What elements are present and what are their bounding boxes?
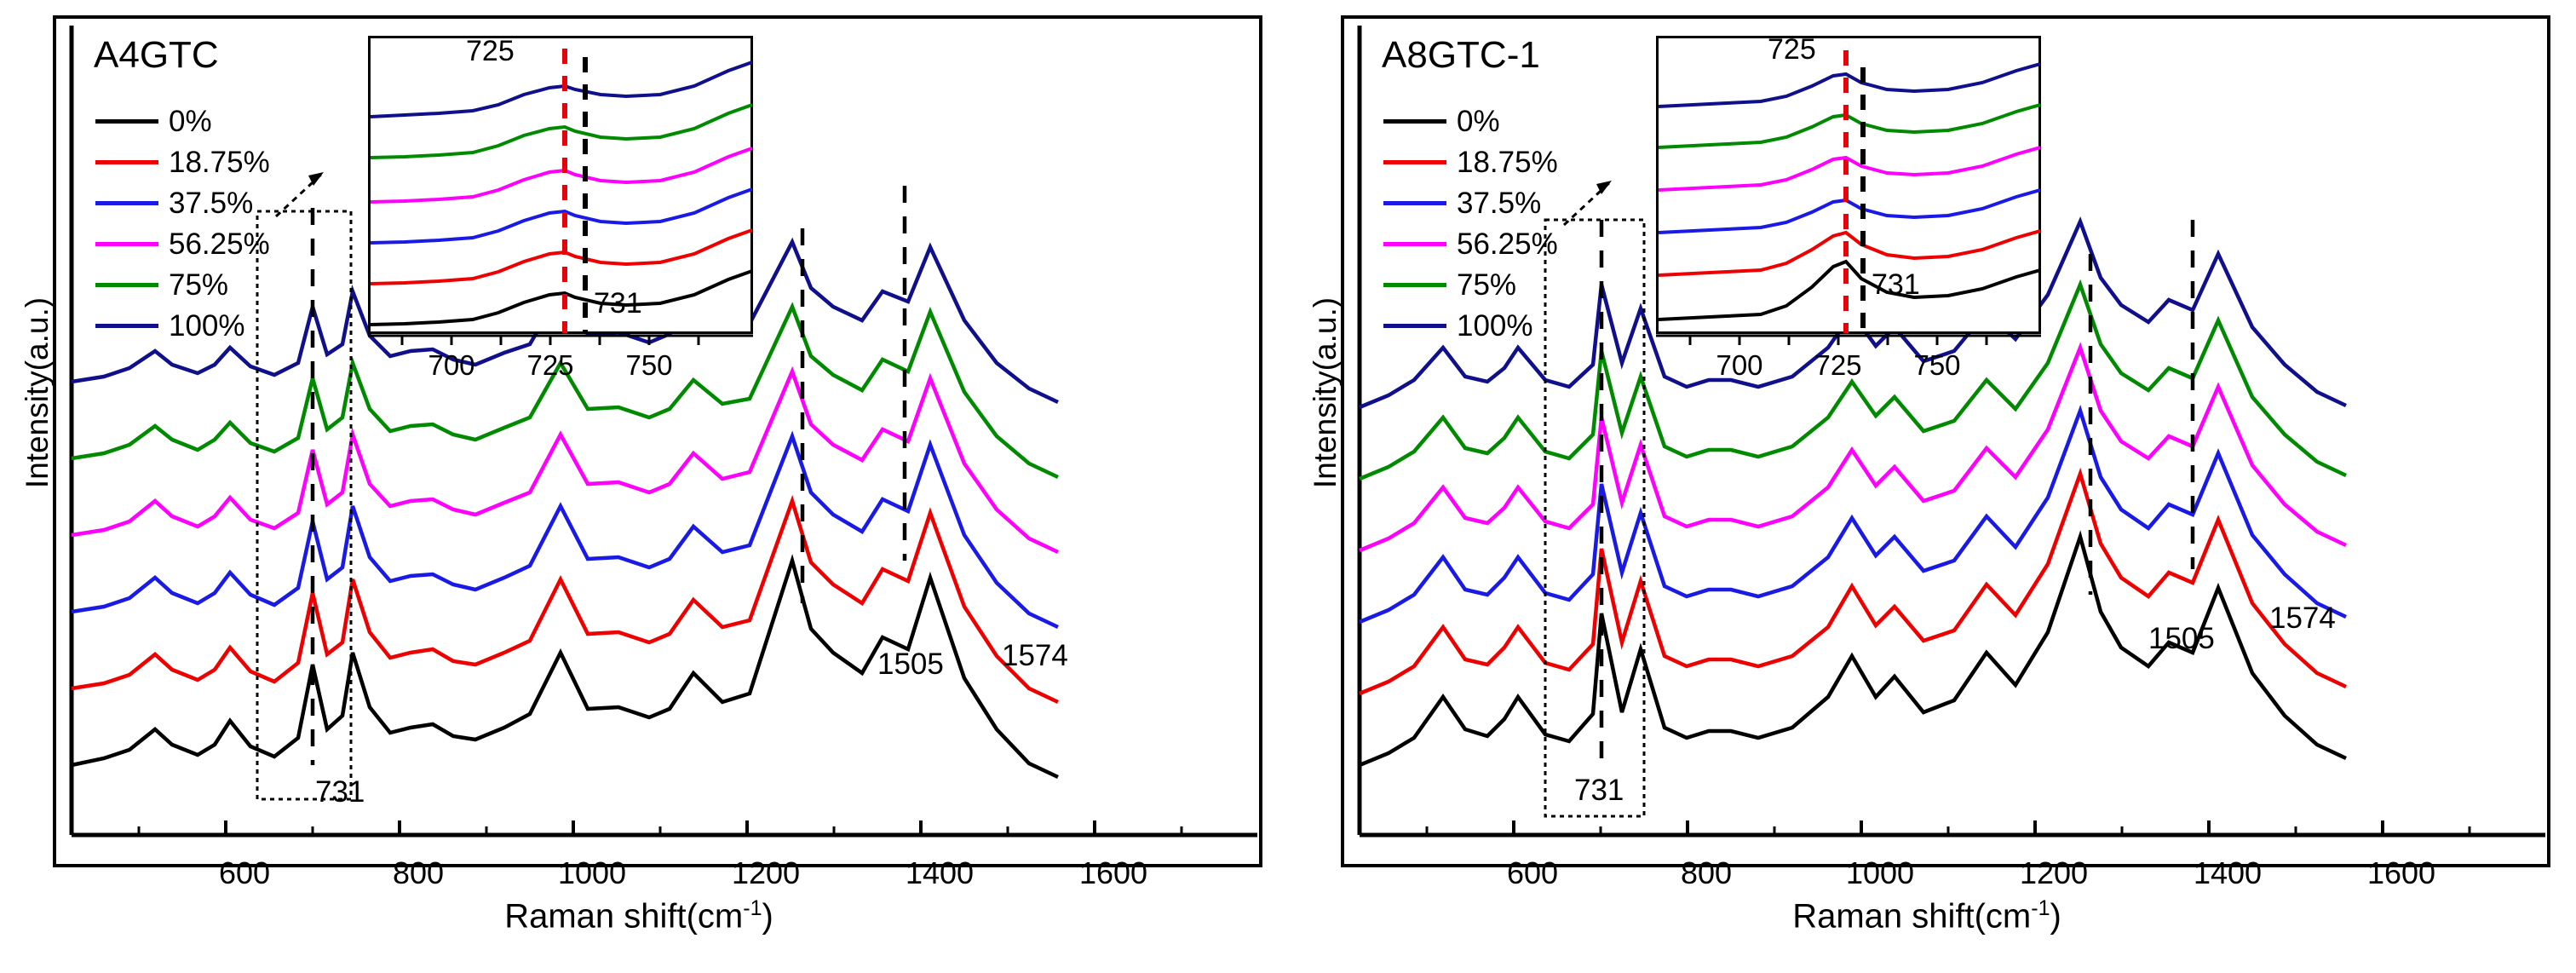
x-axis-label-right: Raman shift(cm-1) bbox=[1569, 896, 2285, 936]
xtick-label-1600-left: 1600 bbox=[1079, 855, 1147, 891]
inset-xaxis-right bbox=[1656, 334, 2041, 351]
xtick-label-1400-left: 1400 bbox=[906, 855, 974, 891]
inset-xtick-725-right: 725 bbox=[1814, 349, 1861, 382]
xtick-label-1200-left: 1200 bbox=[732, 855, 800, 891]
inset-xtick-700-right: 700 bbox=[1716, 349, 1762, 382]
panel-a8gtc-1: Intensity(a.u.) A8GTC-1 0% 18.75% 37.5% … bbox=[1288, 0, 2576, 973]
inset-label-725-right: 725 bbox=[1768, 33, 1816, 66]
xtick-label-600-right: 600 bbox=[1507, 855, 1558, 891]
inset-left: 725 731 bbox=[368, 36, 753, 334]
x-axis-label-main: Raman shift(cm bbox=[504, 897, 743, 935]
xtick-label-1000-right: 1000 bbox=[1846, 855, 1914, 891]
xtick-label-1400-right: 1400 bbox=[2194, 855, 2262, 891]
x-axis-label-exponent: -1 bbox=[2031, 896, 2050, 920]
inset-xaxis-left bbox=[368, 334, 753, 351]
xtick-label-1600-right: 1600 bbox=[2367, 855, 2435, 891]
xtick-label-1000-left: 1000 bbox=[558, 855, 626, 891]
annotation-1505-left: 1505 bbox=[877, 648, 944, 682]
inset-plot-left bbox=[371, 38, 752, 333]
xtick-label-800-right: 800 bbox=[1681, 855, 1732, 891]
inset-xtick-750-left: 750 bbox=[625, 349, 672, 382]
inset-label-731-right: 731 bbox=[1872, 268, 1920, 302]
inset-label-725-left: 725 bbox=[466, 35, 515, 68]
x-axis-label-tail: ) bbox=[762, 897, 773, 935]
inset-plot-right bbox=[1659, 38, 2040, 333]
panel-a4gtc: Intensity(a.u.) A4GTC 0% 18.75% 37.5% 56… bbox=[0, 0, 1288, 973]
xtick-label-1200-right: 1200 bbox=[2020, 855, 2088, 891]
inset-xtick-700-left: 700 bbox=[428, 349, 474, 382]
x-axis-label-exponent: -1 bbox=[743, 896, 762, 920]
x-axis-label-tail: ) bbox=[2050, 897, 2061, 935]
xtick-label-600-left: 600 bbox=[219, 855, 270, 891]
annotation-1574-right: 1574 bbox=[2269, 602, 2336, 636]
inset-xtick-725-left: 725 bbox=[526, 349, 573, 382]
inset-right: 725 731 bbox=[1656, 36, 2041, 334]
inset-xtick-750-right: 750 bbox=[1913, 349, 1960, 382]
annotation-731-right: 731 bbox=[1574, 774, 1624, 808]
y-axis-label-left: Intensity(a.u.) bbox=[20, 205, 55, 580]
annotation-1574-left: 1574 bbox=[1002, 639, 1068, 673]
x-axis-label-main: Raman shift(cm bbox=[1792, 897, 2031, 935]
raman-figure: Intensity(a.u.) A4GTC 0% 18.75% 37.5% 56… bbox=[0, 0, 2576, 973]
inset-label-731-left: 731 bbox=[594, 287, 642, 320]
annotation-731-left: 731 bbox=[315, 775, 365, 809]
xtick-label-800-left: 800 bbox=[393, 855, 444, 891]
y-axis-label-right: Intensity(a.u.) bbox=[1308, 205, 1343, 580]
x-axis-label-left: Raman shift(cm-1) bbox=[281, 896, 997, 936]
annotation-1505-right: 1505 bbox=[2148, 622, 2215, 656]
